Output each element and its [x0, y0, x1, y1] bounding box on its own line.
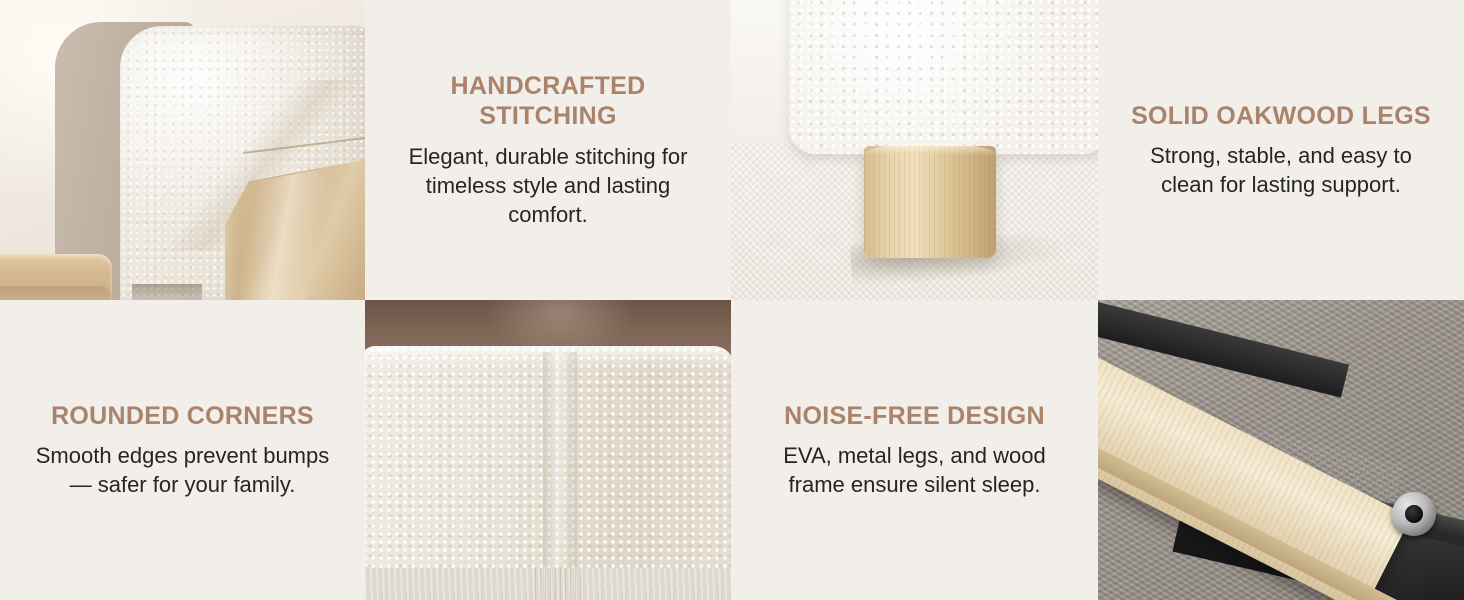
headboard-photo — [0, 0, 365, 300]
feature-grid: HANDCRAFTED STITCHING Elegant, durable s… — [0, 0, 1464, 600]
feature-card-solid-oakwood-legs: SOLID OAKWOOD LEGS Strong, stable, and e… — [1098, 0, 1464, 300]
bolt-hole — [1405, 505, 1423, 523]
bed-corner-photo — [365, 300, 731, 600]
boucle-texture — [789, 0, 1098, 154]
feature-card-noise-free-design: NOISE-FREE DESIGN EVA, metal legs, and w… — [731, 300, 1098, 600]
pillow-seam — [243, 130, 365, 300]
oak-leg-photo — [731, 0, 1098, 300]
metal-frame-photo — [1098, 300, 1464, 600]
nightstand-edge — [0, 286, 112, 300]
feature-title: HANDCRAFTED STITCHING — [451, 71, 646, 132]
rounded-corner-edge — [543, 352, 577, 567]
headboard-leg-shadow — [132, 284, 202, 300]
feature-description: Smooth edges prevent bumps— safer for yo… — [28, 441, 338, 499]
feature-description: EVA, metal legs, and wood frame ensure s… — [760, 441, 1070, 499]
feature-description: Strong, stable, and easy to clean for la… — [1126, 141, 1436, 199]
feature-title: NOISE-FREE DESIGN — [784, 401, 1045, 432]
feature-description: Elegant, durable stitching for timeless … — [393, 142, 703, 229]
feature-title: ROUNDED CORNERS — [51, 401, 314, 432]
wood-grain — [864, 146, 996, 258]
feature-card-handcrafted-stitching: HANDCRAFTED STITCHING Elegant, durable s… — [365, 0, 731, 300]
feature-card-rounded-corners: ROUNDED CORNERS Smooth edges prevent bum… — [0, 300, 365, 600]
feature-title: SOLID OAKWOOD LEGS — [1131, 101, 1431, 132]
